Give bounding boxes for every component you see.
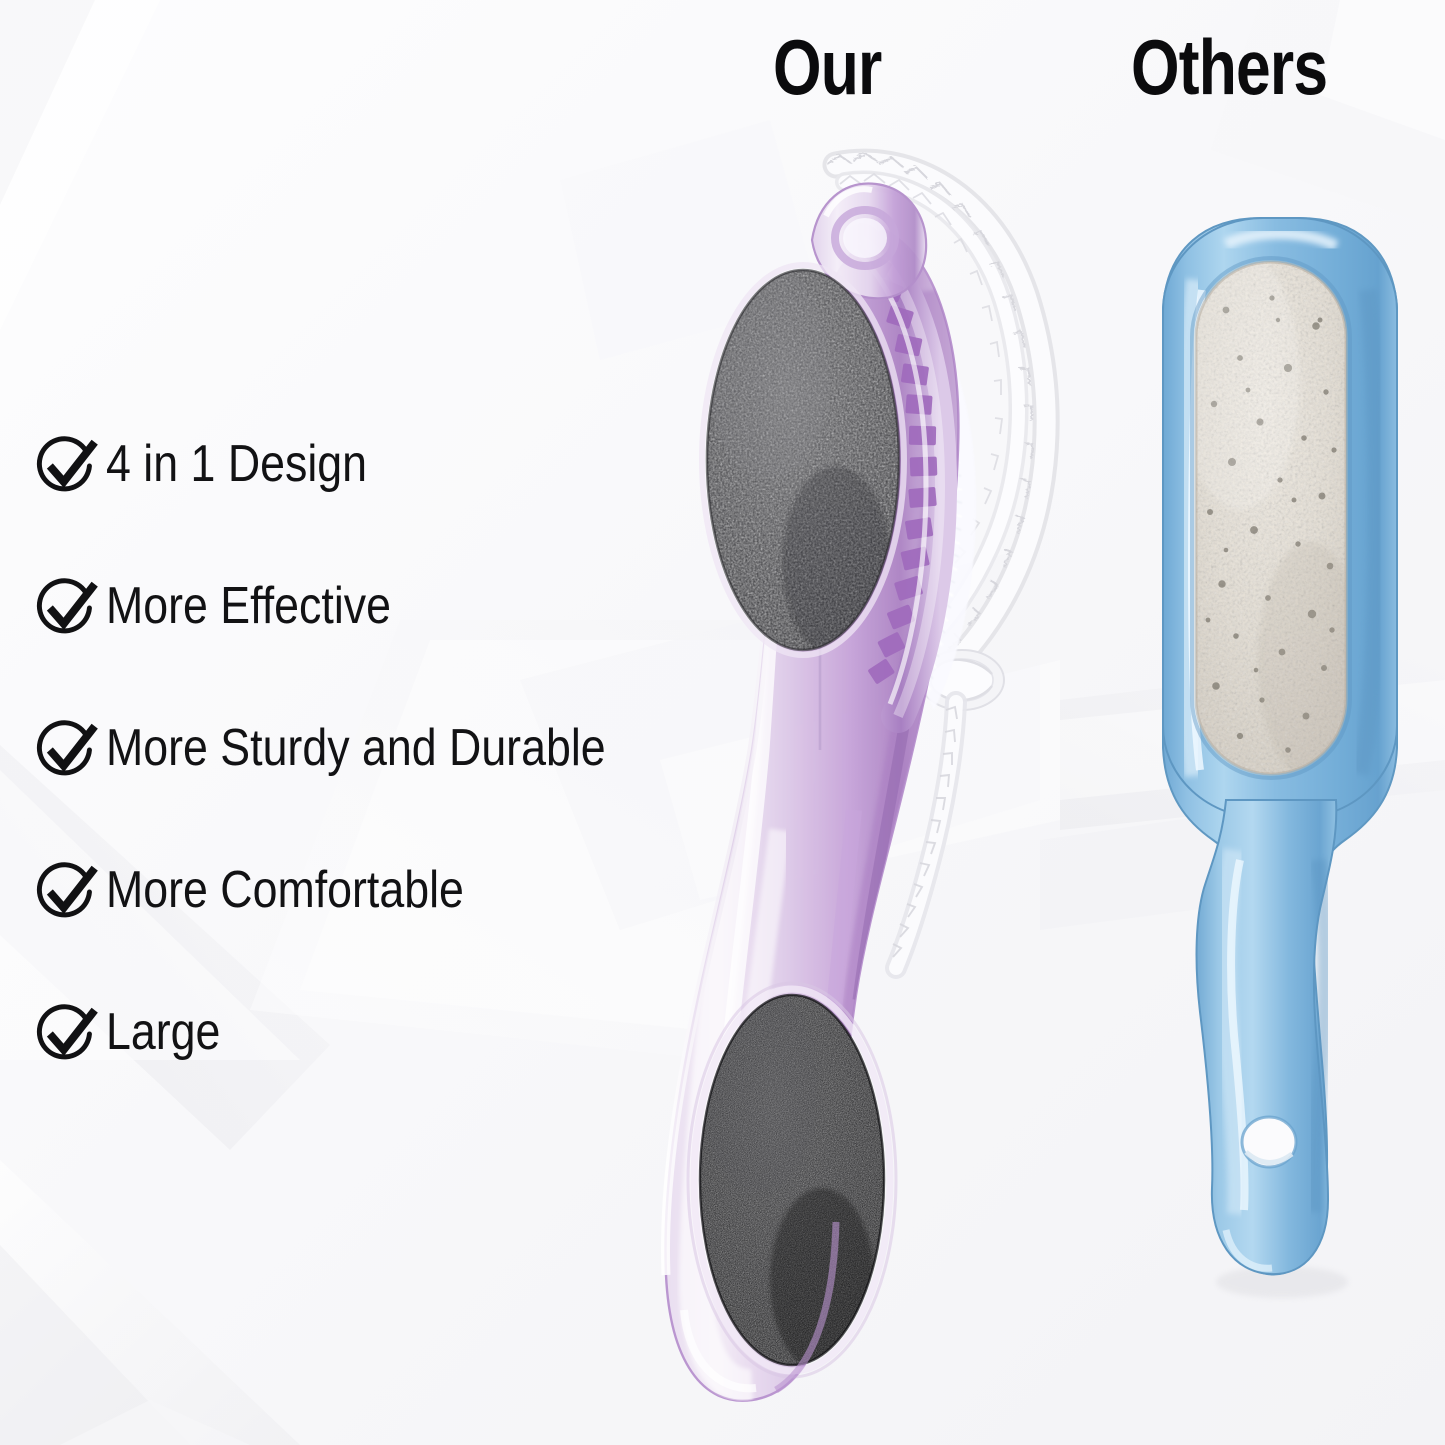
pumice-pad <box>1180 250 1362 781</box>
check-circle-icon <box>34 433 100 499</box>
feature-item: More Sturdy and Durable <box>34 716 794 784</box>
heading-our: Our <box>773 28 882 106</box>
feature-item: More Comfortable <box>34 858 794 926</box>
check-circle-icon <box>34 575 100 641</box>
feature-item: Large <box>34 1000 794 1068</box>
heading-others: Others <box>1131 28 1327 106</box>
check-circle-icon <box>34 717 100 783</box>
feature-item: More Effective <box>34 574 794 642</box>
feature-list: 4 in 1 Design More Effective More Sturdy… <box>34 432 794 1142</box>
feature-label: 4 in 1 Design <box>106 438 367 494</box>
check-circle-icon <box>34 859 100 925</box>
others-product-illustration <box>1130 200 1430 1320</box>
feature-label: More Sturdy and Durable <box>106 722 606 778</box>
feature-item: 4 in 1 Design <box>34 432 794 500</box>
product-image-others <box>1130 200 1430 1320</box>
feature-label: More Comfortable <box>106 864 464 920</box>
feature-label: Large <box>106 1006 220 1062</box>
feature-label: More Effective <box>106 580 391 636</box>
check-circle-icon <box>34 1001 100 1067</box>
hang-hole <box>1242 1117 1296 1167</box>
